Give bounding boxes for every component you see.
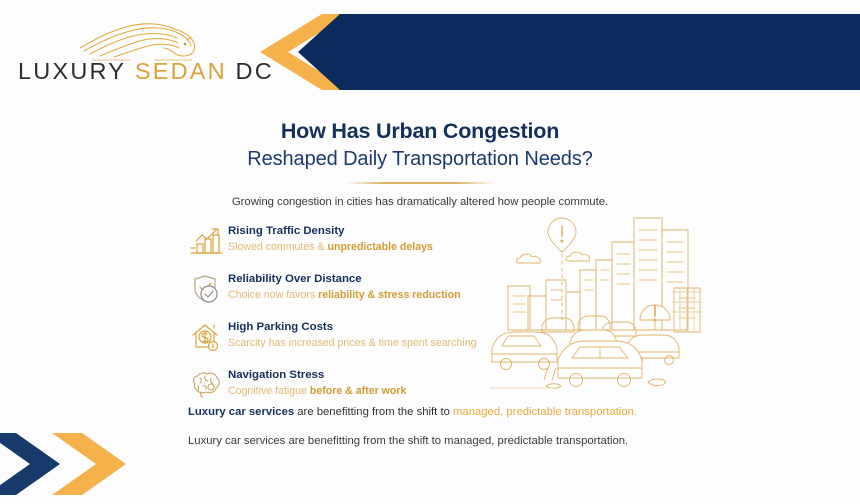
feature-desc-bold: reliability & stress reduction [318, 289, 460, 301]
list-item: Reliability Over Distance Choice now fav… [186, 270, 486, 308]
feature-desc-bold: unpredictable delays [328, 241, 433, 253]
logo-wordmark: LUXURY SEDAN DC [18, 58, 233, 85]
brand-logo[interactable]: LUXURY SEDAN DC [18, 18, 233, 88]
shield-check-icon [186, 270, 226, 308]
bottom-line-mid: are benefitting from the shift to [294, 406, 453, 418]
logo-word-sedan: SEDAN [135, 58, 227, 84]
feature-title: High Parking Costs [228, 320, 476, 335]
horse-eye-icon [184, 43, 187, 46]
feature-title: Navigation Stress [228, 368, 406, 383]
bottom-line-gold: managed, predictable transportation. [453, 406, 637, 418]
list-item-text: Reliability Over Distance Choice now fav… [228, 270, 461, 304]
feature-title: Rising Traffic Density [228, 224, 433, 239]
list-item: Rising Traffic Density Slowed commutes &… [186, 222, 486, 260]
footer-chevrons [0, 429, 180, 499]
chevron-right-gold-icon [52, 433, 126, 495]
title-block: How Has Urban Congestion Reshaped Daily … [140, 118, 700, 208]
city-traffic-congestion-illustration [484, 208, 704, 400]
brain-icon [186, 366, 226, 404]
list-item: High Parking Costs Scarcity has increase… [186, 318, 486, 356]
logo-word-luxury: LUXURY [18, 58, 126, 84]
feature-desc-plain: Choice now favors [228, 289, 318, 301]
list-item-text: Rising Traffic Density Slowed commutes &… [228, 222, 433, 256]
feature-desc-plain: Scarcity has increased prices & time spe… [228, 337, 476, 349]
house-dollar-icon [186, 318, 226, 356]
feature-desc: Cognitive fatigue before & after work [228, 384, 406, 400]
bottom-text-block: Luxury car services are benefitting from… [188, 404, 708, 450]
page-title-line-2: Reshaped Daily Transportation Needs? [140, 146, 700, 173]
page-title-line-1: How Has Urban Congestion [140, 118, 700, 145]
feature-desc: Scarcity has increased prices & time spe… [228, 336, 476, 352]
bar-chart-trend-up-icon [186, 222, 226, 260]
title-divider [345, 182, 495, 184]
list-item: Navigation Stress Cognitive fatigue befo… [186, 366, 486, 404]
bottom-line-highlighted: Luxury car services are benefitting from… [188, 404, 708, 421]
list-item-text: Navigation Stress Cognitive fatigue befo… [228, 366, 406, 400]
feature-desc: Slowed commutes & unpredictable delays [228, 240, 433, 256]
feature-desc-plain: Cognitive fatigue [228, 385, 310, 397]
footer-chevrons-svg [0, 429, 180, 499]
feature-desc-plain: Slowed commutes & [228, 241, 328, 253]
logo-word-dc: DC [236, 58, 274, 84]
horse-head-logo-icon [70, 18, 200, 62]
feature-desc-bold: before & after work [310, 385, 407, 397]
page-subtitle: Growing congestion in cities has dramati… [140, 196, 700, 208]
list-item-text: High Parking Costs Scarcity has increase… [228, 318, 476, 352]
chevron-right-navy-icon [0, 433, 60, 495]
feature-desc: Choice now favors reliability & stress r… [228, 288, 461, 304]
feature-title: Reliability Over Distance [228, 272, 461, 287]
navy-banner-shape [298, 14, 860, 90]
bottom-line-plain: Luxury car services are benefitting from… [188, 433, 708, 450]
feature-list: Rising Traffic Density Slowed commutes &… [186, 222, 486, 414]
bottom-line-bold: Luxury car services [188, 406, 294, 418]
